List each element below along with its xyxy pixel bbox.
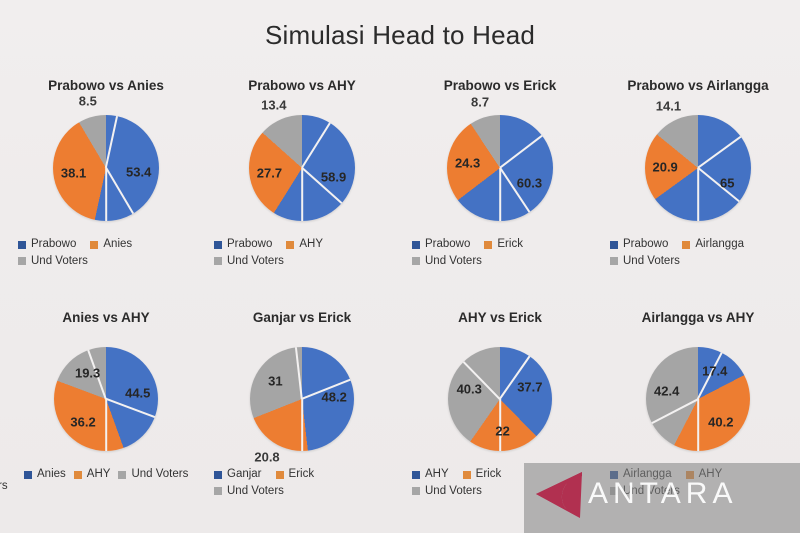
data-label: 40.2 [708, 414, 733, 429]
pie-area: 6520.914.1 [598, 93, 798, 233]
data-label: 8.5 [79, 94, 97, 109]
chart-legend: PrabowoErickUnd Voters [412, 239, 592, 272]
legend-label: Anies [103, 239, 132, 251]
slice-separator [301, 399, 303, 451]
slice-separator [499, 168, 501, 221]
pie-chart-2: Prabowo vs AHY58.927.713.4PrabowoAHYUnd … [202, 78, 402, 272]
legend-swatch-icon [90, 241, 98, 249]
data-label: 48.2 [322, 390, 347, 405]
data-label: 37.7 [517, 379, 542, 394]
pie-area: 17.440.242.4 [598, 325, 798, 463]
legend-item-und-voters[interactable]: Und Voters [214, 256, 394, 268]
legend-label: AHY [299, 239, 323, 251]
chart-title: AHY vs Erick [400, 310, 600, 325]
legend-item-und-voters[interactable]: Und Voters [412, 486, 592, 498]
chart-legend: PrabowoAHYUnd Voters [214, 239, 394, 272]
legend-item-anies[interactable]: Anies [24, 469, 66, 481]
legend-label: Anies [37, 469, 66, 481]
pie-area: 37.72240.3 [400, 325, 600, 463]
legend-label: Airlangga [623, 469, 672, 481]
data-label: 40.3 [457, 382, 482, 397]
legend-item-und-voters[interactable]: Und Voters [118, 469, 188, 481]
slice-separator [697, 399, 699, 451]
legend-swatch-icon [610, 471, 618, 479]
chart-legend: PrabowoAniesUnd Voters [18, 239, 198, 272]
legend-label: Und Voters [623, 256, 680, 268]
legend-item-prabowo[interactable]: Prabowo [412, 239, 470, 251]
data-label: 27.7 [257, 165, 282, 180]
slide-canvas: Simulasi Head to Head Prabowo vs Anies53… [0, 0, 800, 533]
data-label: 31 [268, 373, 282, 388]
legend-swatch-icon [686, 471, 694, 479]
legend-item-erick[interactable]: Erick [463, 469, 502, 481]
data-label: 42.4 [654, 384, 679, 399]
pie-area: 48.220.831 [202, 325, 402, 463]
legend-label: Prabowo [31, 239, 76, 251]
legend-swatch-icon [18, 241, 26, 249]
pie-area: 60.324.38.7 [400, 93, 600, 233]
pie-area: 44.536.219.3 [6, 325, 206, 463]
legend-label: Und Voters [425, 256, 482, 268]
legend-item-ahy[interactable]: AHY [286, 239, 323, 251]
pie-area: 58.927.713.4 [202, 93, 402, 233]
legend-item-prabowo[interactable]: Prabowo [610, 239, 668, 251]
legend-swatch-icon [214, 471, 222, 479]
legend-label: Erick [497, 239, 523, 251]
legend-item-airlangga[interactable]: Airlangga [682, 239, 744, 251]
legend-swatch-icon [276, 471, 284, 479]
slice-separator [301, 168, 303, 221]
slice-separator [105, 399, 107, 451]
legend-swatch-icon [610, 487, 618, 495]
legend-label: Und Voters [31, 256, 88, 268]
chart-title: Prabowo vs Erick [400, 78, 600, 93]
clipped-legend-fragment: rs [0, 480, 8, 492]
legend-item-anies[interactable]: Anies [90, 239, 132, 251]
legend-label: AHY [425, 469, 449, 481]
chart-legend: GanjarErickUnd Voters [214, 469, 394, 502]
legend-item-und-voters[interactable]: Und Voters [214, 486, 394, 498]
legend-label: Und Voters [227, 256, 284, 268]
data-label: 65 [720, 175, 734, 190]
chart-title: Prabowo vs AHY [202, 78, 402, 93]
legend-swatch-icon [610, 241, 618, 249]
data-label: 20.8 [254, 450, 279, 465]
data-label: 17.4 [702, 364, 727, 379]
legend-swatch-icon [214, 241, 222, 249]
legend-label: Prabowo [623, 239, 668, 251]
legend-label: Und Voters [227, 486, 284, 498]
legend-swatch-icon [463, 471, 471, 479]
data-label: 14.1 [656, 98, 681, 113]
pie-chart-5: Anies vs AHY44.536.219.3AniesAHYUnd Vote… [6, 310, 206, 486]
legend-item-prabowo[interactable]: Prabowo [214, 239, 272, 251]
legend-item-ahy[interactable]: AHY [74, 469, 111, 481]
legend-swatch-icon [74, 471, 82, 479]
legend-item-ahy[interactable]: AHY [412, 469, 449, 481]
page-title: Simulasi Head to Head [0, 20, 800, 51]
legend-item-erick[interactable]: Erick [276, 469, 315, 481]
chart-legend: AniesAHYUnd Voters [24, 469, 220, 486]
legend-swatch-icon [214, 257, 222, 265]
pie-chart-1: Prabowo vs Anies53.438.18.5PrabowoAniesU… [6, 78, 206, 272]
pie-chart-8: Airlangga vs AHY17.440.242.4AirlanggaAHY… [598, 310, 798, 502]
legend-swatch-icon [118, 471, 126, 479]
legend-label: Prabowo [425, 239, 470, 251]
legend-swatch-icon [18, 257, 26, 265]
data-label: 8.7 [471, 94, 489, 109]
chart-title: Anies vs AHY [6, 310, 206, 325]
pie-chart-7: AHY vs Erick37.72240.3AHYErickUnd Voters [400, 310, 600, 502]
legend-swatch-icon [610, 257, 618, 265]
legend-item-und-voters[interactable]: Und Voters [610, 256, 796, 268]
chart-legend: AHYErickUnd Voters [412, 469, 592, 502]
slice-separator [105, 168, 107, 221]
legend-label: Und Voters [131, 469, 188, 481]
legend-label: Erick [289, 469, 315, 481]
chart-legend: PrabowoAirlanggaUnd Voters [610, 239, 796, 272]
legend-swatch-icon [24, 471, 32, 479]
data-label: 13.4 [261, 98, 286, 113]
legend-item-und-voters[interactable]: Und Voters [610, 486, 796, 498]
legend-item-airlangga[interactable]: Airlangga [610, 469, 672, 481]
legend-item-ganjar[interactable]: Ganjar [214, 469, 262, 481]
legend-item-ahy[interactable]: AHY [686, 469, 723, 481]
legend-swatch-icon [286, 241, 294, 249]
pie-chart-3: Prabowo vs Erick60.324.38.7PrabowoErickU… [400, 78, 600, 272]
legend-item-und-voters[interactable]: Und Voters [412, 256, 592, 268]
legend-swatch-icon [682, 241, 690, 249]
legend-label: Ganjar [227, 469, 262, 481]
data-label: 53.4 [126, 164, 151, 179]
data-label: 60.3 [517, 175, 542, 190]
legend-item-erick[interactable]: Erick [484, 239, 523, 251]
legend-swatch-icon [412, 471, 420, 479]
chart-grid: Prabowo vs Anies53.438.18.5PrabowoAniesU… [0, 70, 800, 533]
data-label: 38.1 [61, 166, 86, 181]
data-label: 24.3 [455, 155, 480, 170]
data-label: 20.9 [652, 160, 677, 175]
legend-label: Und Voters [623, 486, 680, 498]
slice-separator [697, 168, 699, 221]
chart-title: Prabowo vs Anies [6, 78, 206, 93]
legend-item-und-voters[interactable]: Und Voters [18, 256, 198, 268]
data-label: 58.9 [321, 170, 346, 185]
legend-label: Erick [476, 469, 502, 481]
legend-label: AHY [699, 469, 723, 481]
legend-label: Airlangga [695, 239, 744, 251]
pie-chart-4: Prabowo vs Airlangga6520.914.1PrabowoAir… [598, 78, 798, 272]
data-label: 36.2 [70, 414, 95, 429]
legend-swatch-icon [412, 487, 420, 495]
legend-swatch-icon [412, 241, 420, 249]
legend-item-prabowo[interactable]: Prabowo [18, 239, 76, 251]
chart-title: Ganjar vs Erick [202, 310, 402, 325]
legend-label: Und Voters [425, 486, 482, 498]
data-label: 22 [495, 424, 509, 439]
chart-title: Airlangga vs AHY [598, 310, 798, 325]
data-label: 44.5 [125, 386, 150, 401]
legend-label: AHY [87, 469, 111, 481]
legend-swatch-icon [484, 241, 492, 249]
legend-swatch-icon [214, 487, 222, 495]
chart-legend: AirlanggaAHYUnd Voters [610, 469, 796, 502]
legend-label: Prabowo [227, 239, 272, 251]
legend-swatch-icon [412, 257, 420, 265]
chart-title: Prabowo vs Airlangga [598, 78, 798, 93]
pie-area: 53.438.18.5 [6, 93, 206, 233]
pie-chart-6: Ganjar vs Erick48.220.831GanjarErickUnd … [202, 310, 402, 502]
data-label: 19.3 [75, 365, 100, 380]
